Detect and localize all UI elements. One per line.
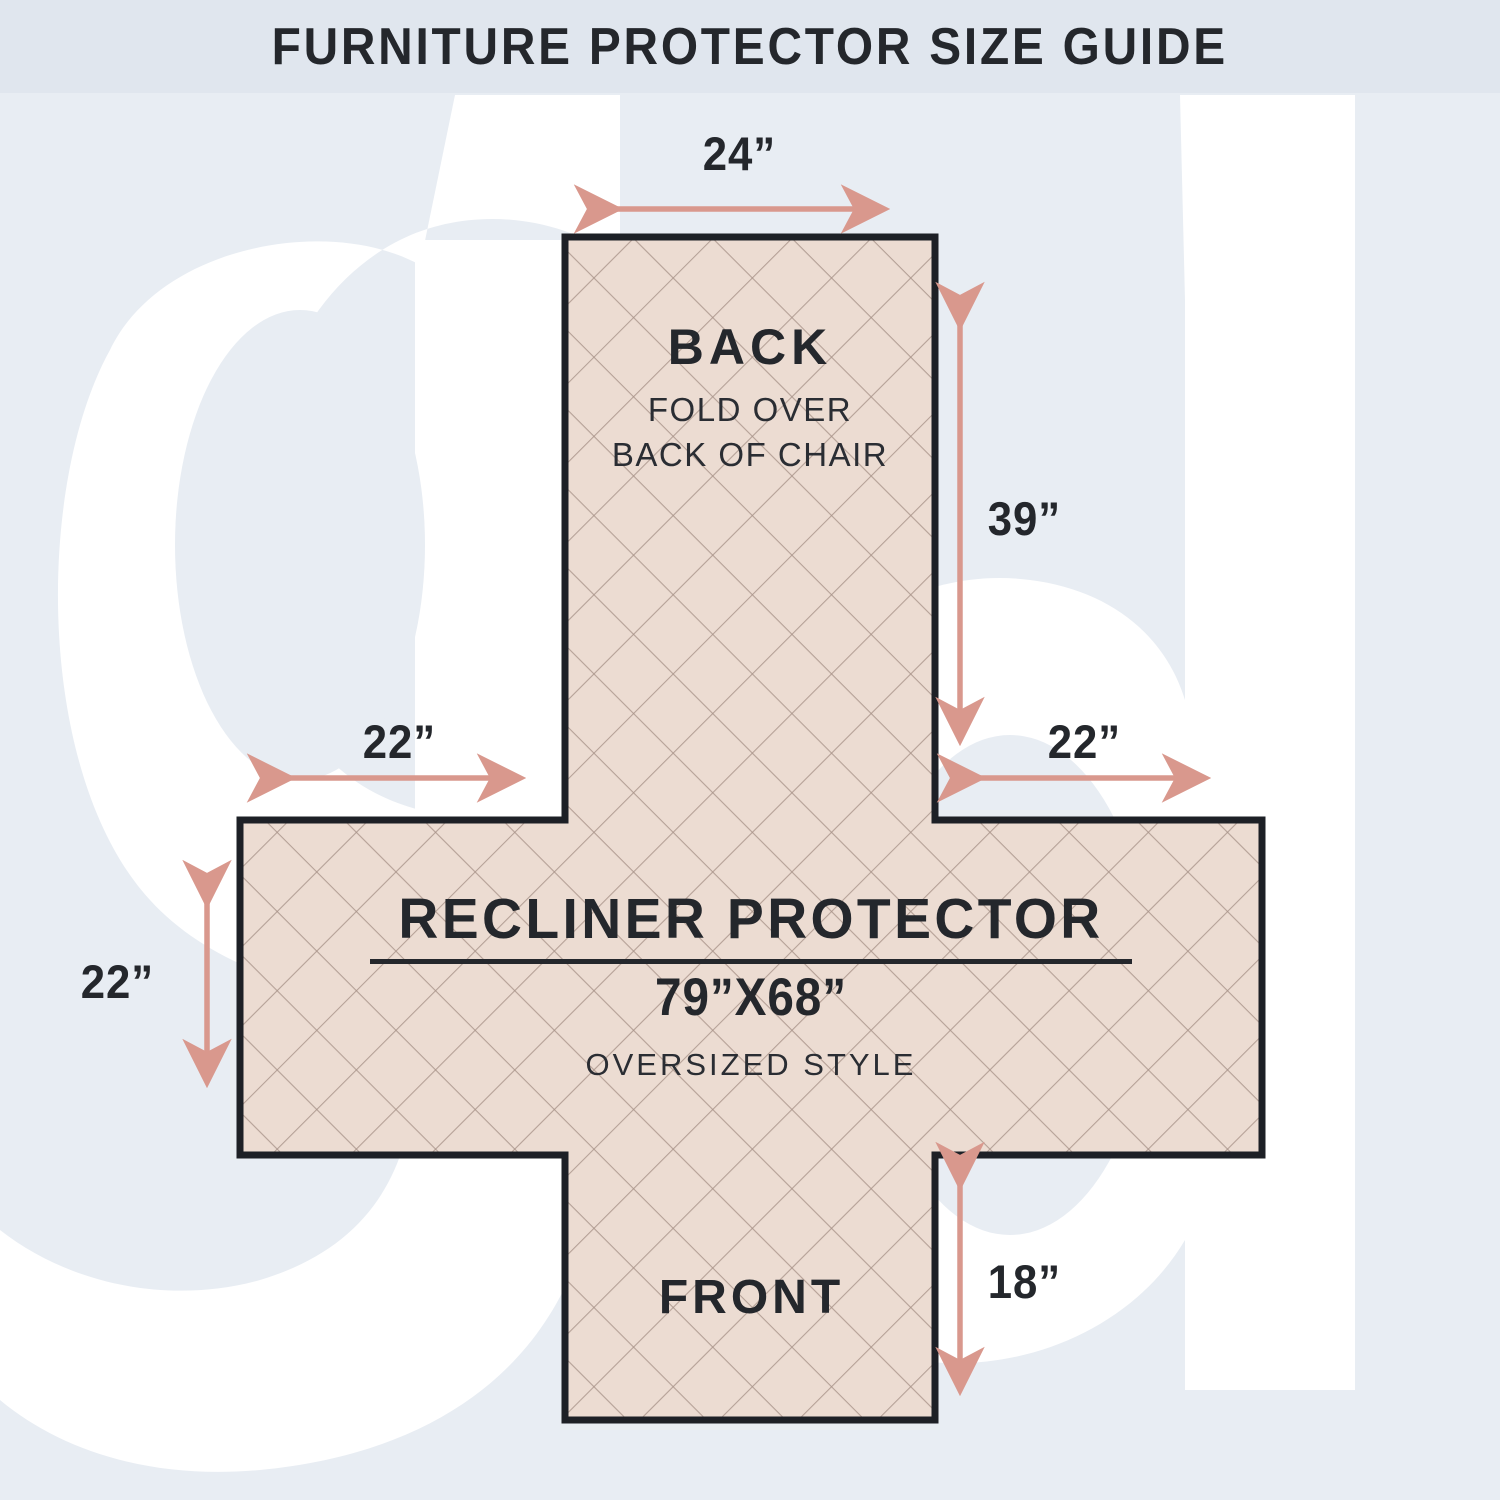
back-instruction-line-2: BACK OF CHAIR: [565, 433, 935, 478]
divider-rule: [370, 959, 1132, 964]
dimension-label-left-arm: 22”: [363, 718, 436, 765]
dimension-label-right-arm: 22”: [1048, 718, 1121, 765]
back-instruction-line-1: FOLD OVER: [565, 388, 935, 433]
size-guide-infographic: FURNITURE PROTECTOR SIZE GUIDE: [0, 0, 1500, 1500]
product-style: OVERSIZED STYLE: [240, 1047, 1262, 1083]
back-panel-label: BACK: [565, 318, 935, 377]
front-panel-label: FRONT: [568, 1270, 935, 1327]
product-size: 79”X68”: [291, 968, 1211, 1029]
dimension-label-front-skirt: 18”: [988, 1258, 1061, 1305]
product-info-block: RECLINER PROTECTOR 79”X68” OVERSIZED STY…: [240, 890, 1262, 1083]
dimension-label-top-width: 24”: [703, 130, 776, 177]
dimension-label-seat-depth: 22”: [81, 958, 154, 1005]
back-panel-instruction: FOLD OVER BACK OF CHAIR: [565, 388, 935, 477]
dimension-label-back-length: 39”: [988, 495, 1061, 542]
product-name: RECLINER PROTECTOR: [255, 890, 1246, 950]
